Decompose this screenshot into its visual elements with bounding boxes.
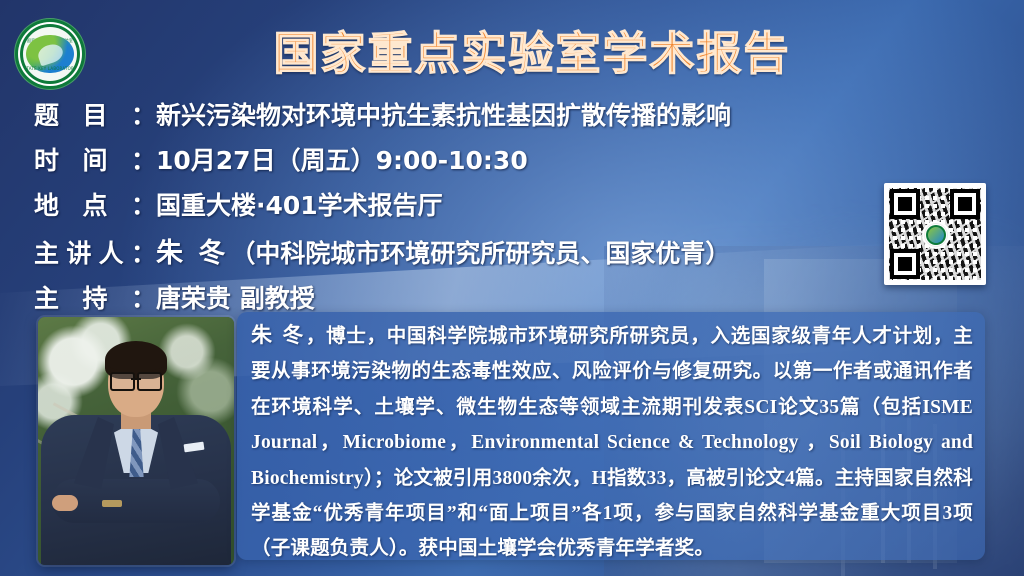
label-host: 主 持 ： bbox=[34, 279, 156, 315]
value-topic: 新兴污染物对环境中抗生素抗性基因扩散传播的影响 bbox=[156, 96, 731, 132]
speaker-bio-text: 朱 冬，博士，中国科学院城市环境研究所研究员，入选国家级青年人才计划，主要从事环… bbox=[251, 318, 973, 567]
qr-code[interactable] bbox=[884, 183, 986, 285]
speaker-name: 朱 冬 bbox=[156, 238, 228, 269]
value-venue: 国重大楼·401学术报告厅 bbox=[156, 186, 443, 222]
bio-body: ，博士，中国科学院城市环境研究所研究员，入选国家级青年人才计划，主要从事环境污染… bbox=[251, 326, 973, 559]
info-block: 题 目 ： 新兴污染物对环境中抗生素抗性基因扩散传播的影响 时 间 ： 10月2… bbox=[34, 96, 874, 324]
value-time: 10月27日（周五）9:00-10:30 bbox=[156, 141, 528, 177]
qr-finder-top-left bbox=[890, 189, 920, 219]
speaker-bio-panel: 朱 冬，博士，中国科学院城市环境研究所研究员，入选国家级青年人才计划，主要从事环… bbox=[237, 312, 985, 560]
value-speaker: 朱 冬（中科院城市环境研究所研究员、国家优青） bbox=[156, 231, 730, 270]
label-time: 时 间 ： bbox=[34, 141, 156, 177]
page-title: 国家重点实验室学术报告 bbox=[0, 17, 1024, 82]
value-host: 唐荣贵 副教授 bbox=[156, 279, 315, 315]
bio-speaker-name: 朱 冬 bbox=[251, 323, 306, 347]
label-topic: 题 目 ： bbox=[34, 96, 156, 132]
speaker-affiliation: （中科院城市环境研究所研究员、国家优青） bbox=[230, 239, 730, 268]
glasses-icon bbox=[110, 372, 162, 387]
info-row-venue: 地 点 ： 国重大楼·401学术报告厅 bbox=[34, 186, 874, 222]
label-speaker: 主 讲 人 ： bbox=[34, 234, 156, 270]
qr-center-logo-icon bbox=[924, 223, 948, 247]
info-row-host: 主 持 ： 唐荣贵 副教授 bbox=[34, 279, 874, 315]
label-venue: 地 点 ： bbox=[34, 186, 156, 222]
info-row-topic: 题 目 ： 新兴污染物对环境中抗生素抗性基因扩散传播的影响 bbox=[34, 96, 874, 132]
speaker-portrait bbox=[38, 317, 234, 565]
qr-finder-bottom-left bbox=[890, 249, 920, 279]
poster-header: 国家环境保护重点实验室 STATE KEY LABORATORY 国家重点实验室… bbox=[0, 0, 1024, 94]
seminar-poster: 国家环境保护重点实验室 STATE KEY LABORATORY 国家重点实验室… bbox=[0, 0, 1024, 576]
qr-finder-top-right bbox=[950, 189, 980, 219]
info-row-time: 时 间 ： 10月27日（周五）9:00-10:30 bbox=[34, 141, 874, 177]
info-row-speaker: 主 讲 人 ： 朱 冬（中科院城市环境研究所研究员、国家优青） bbox=[34, 231, 874, 270]
